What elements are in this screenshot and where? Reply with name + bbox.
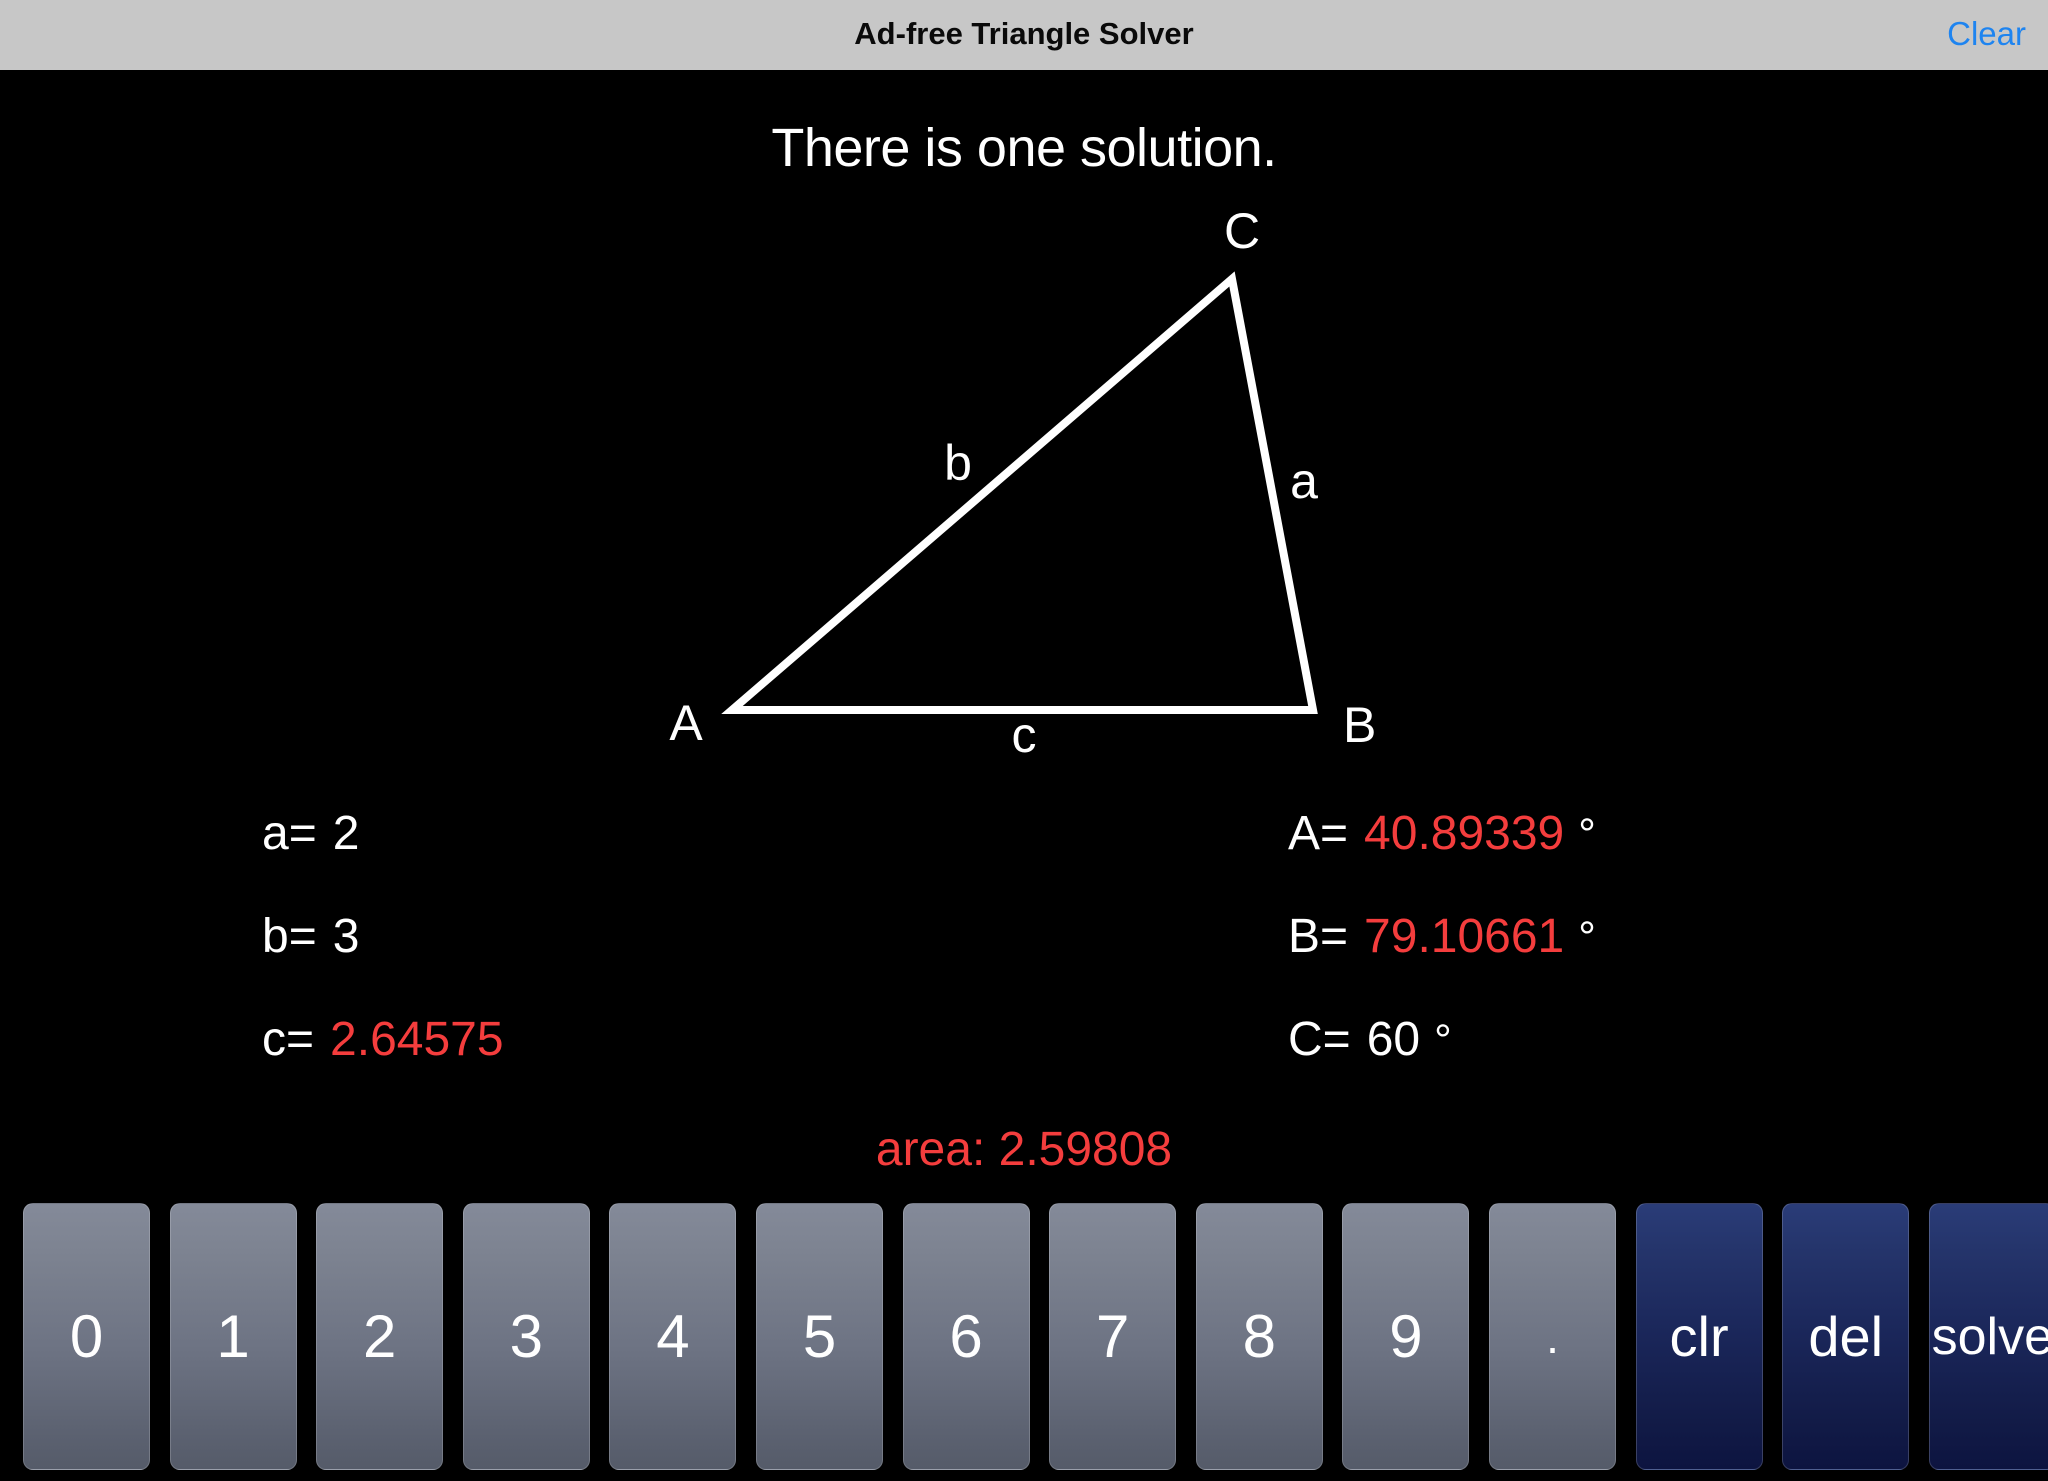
key-9[interactable]: 9 [1342,1203,1469,1470]
angle-b-label: B= [1288,910,1348,963]
degree-symbol-icon: ° [1564,913,1596,962]
vertex-label-c: C [1224,203,1260,259]
key-7[interactable]: 7 [1049,1203,1176,1470]
side-a-label: a= [262,807,317,860]
angle-b-value: 79.10661 [1364,910,1564,963]
angles-results: A=40.89339° B=79.10661° C=60° [1288,810,1988,1119]
result-row[interactable]: C=60° [1288,1016,1988,1119]
key-clr[interactable]: clr [1636,1203,1763,1470]
result-row[interactable]: B=79.10661° [1288,913,1988,1016]
side-b-value: 3 [333,910,360,963]
key-3[interactable]: 3 [463,1203,590,1470]
side-label-c: c [1012,707,1037,763]
key-8[interactable]: 8 [1196,1203,1323,1470]
vertex-label-b: B [1343,697,1376,753]
triangle-shape [732,279,1313,710]
key-1[interactable]: 1 [170,1203,297,1470]
key-del[interactable]: del [1782,1203,1909,1470]
side-c-value: 2.64575 [330,1013,504,1066]
key-solve[interactable]: solve [1929,1203,2048,1470]
triangle-diagram: A B C b a c [0,160,2048,780]
angle-a-label: A= [1288,807,1348,860]
key-4[interactable]: 4 [609,1203,736,1470]
result-row[interactable]: A=40.89339° [1288,810,1988,913]
result-row[interactable]: c=2.64575 [262,1016,882,1119]
side-c-label: c= [262,1013,314,1066]
result-row[interactable]: a=2 [262,810,882,913]
side-a-value: 2 [333,807,360,860]
key-2[interactable]: 2 [316,1203,443,1470]
angle-a-value: 40.89339 [1364,807,1564,860]
area-result: area: 2.59808 [0,1122,2048,1177]
angle-c-value: 60 [1367,1013,1420,1066]
side-label-a: a [1290,453,1318,509]
side-b-label: b= [262,910,317,963]
clear-button[interactable]: Clear [1947,0,2026,70]
title-bar: Ad-free Triangle Solver Clear [0,0,2048,70]
key-6[interactable]: 6 [903,1203,1030,1470]
key-decimal[interactable]: . [1489,1203,1616,1470]
angle-c-label: C= [1288,1013,1351,1066]
key-0[interactable]: 0 [23,1203,150,1470]
vertex-label-a: A [669,695,703,751]
side-label-b: b [944,435,972,491]
sides-results: a=2 b=3 c=2.64575 [262,810,882,1119]
degree-symbol-icon: ° [1564,810,1596,859]
app-title: Ad-free Triangle Solver [0,0,2048,70]
keypad: 0123456789.clrdelsolve [0,1203,2048,1470]
degree-symbol-icon: ° [1420,1016,1452,1065]
result-row[interactable]: b=3 [262,913,882,1016]
key-5[interactable]: 5 [756,1203,883,1470]
